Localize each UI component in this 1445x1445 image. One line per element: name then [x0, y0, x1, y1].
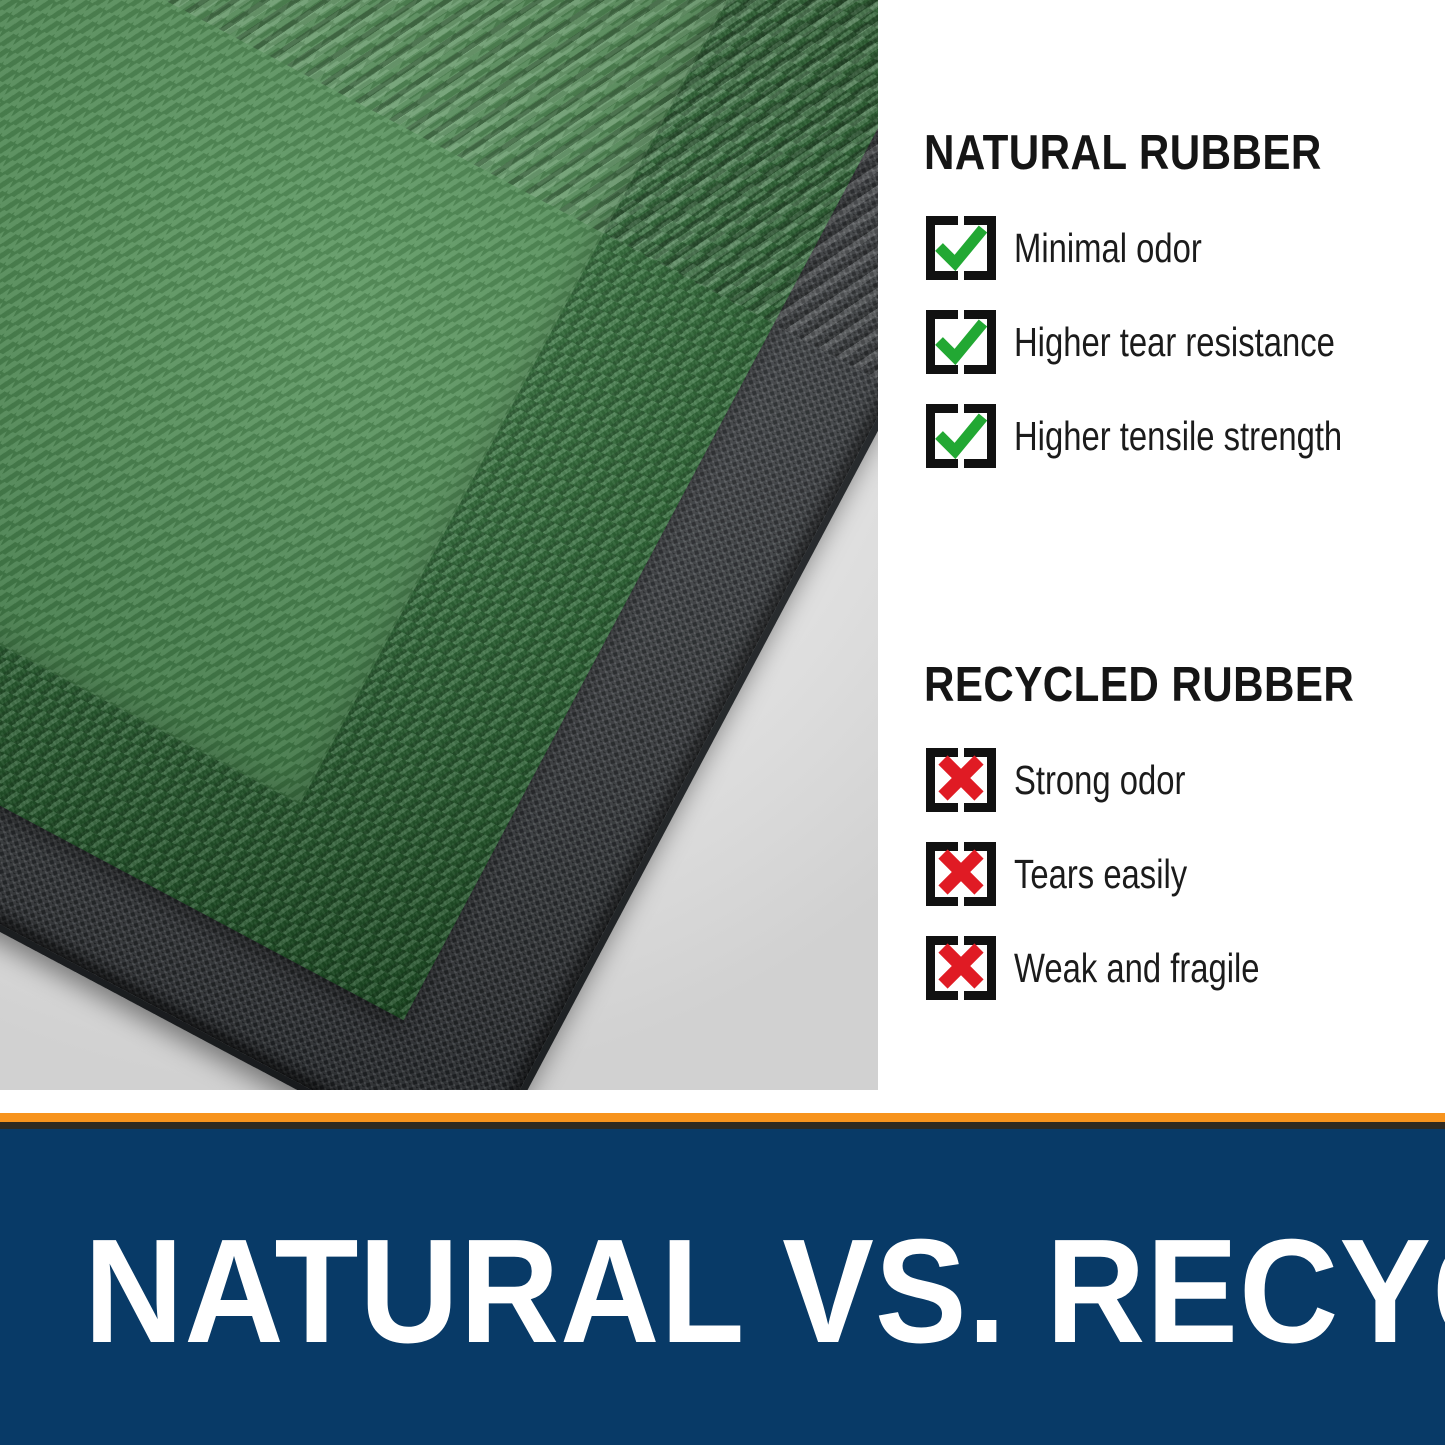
infographic-page: NATURAL RUBBER Minimal odor [0, 0, 1445, 1445]
feature-row: Weak and fragile [924, 933, 1424, 1003]
check-glyph [933, 408, 989, 464]
check-icon [924, 214, 998, 282]
group-title-natural: NATURAL RUBBER [924, 128, 1354, 179]
cross-glyph [933, 846, 989, 902]
group-natural-rubber: NATURAL RUBBER Minimal odor [924, 128, 1424, 495]
product-photo [0, 0, 878, 1090]
feature-label: Higher tensile strength [1014, 416, 1342, 457]
group-recycled-rubber: RECYCLED RUBBER Strong odor [924, 660, 1424, 1027]
accent-stripe-dark [0, 1122, 1445, 1129]
check-glyph [933, 314, 989, 370]
group-title-recycled: RECYCLED RUBBER [924, 660, 1354, 711]
cross-icon [924, 934, 998, 1002]
feature-label: Higher tear resistance [1014, 322, 1335, 363]
check-glyph [933, 220, 989, 276]
feature-row: Higher tear resistance [924, 307, 1424, 377]
feature-row: Strong odor [924, 745, 1424, 815]
feature-label: Weak and fragile [1014, 948, 1260, 989]
feature-row: Higher tensile strength [924, 401, 1424, 471]
feature-label: Tears easily [1014, 854, 1187, 895]
check-icon [924, 402, 998, 470]
accent-stripe-orange [0, 1113, 1445, 1122]
feature-label: Minimal odor [1014, 228, 1202, 269]
check-icon [924, 308, 998, 376]
feature-row: Tears easily [924, 839, 1424, 909]
cross-icon [924, 746, 998, 814]
banner-title: NATURAL VS. RECYCLED [84, 1218, 1445, 1366]
cross-glyph [933, 940, 989, 996]
comparison-panel: NATURAL RUBBER Minimal odor [878, 0, 1445, 1090]
cross-glyph [933, 752, 989, 808]
feature-row: Minimal odor [924, 213, 1424, 283]
cross-icon [924, 840, 998, 908]
feature-label: Strong odor [1014, 760, 1185, 801]
